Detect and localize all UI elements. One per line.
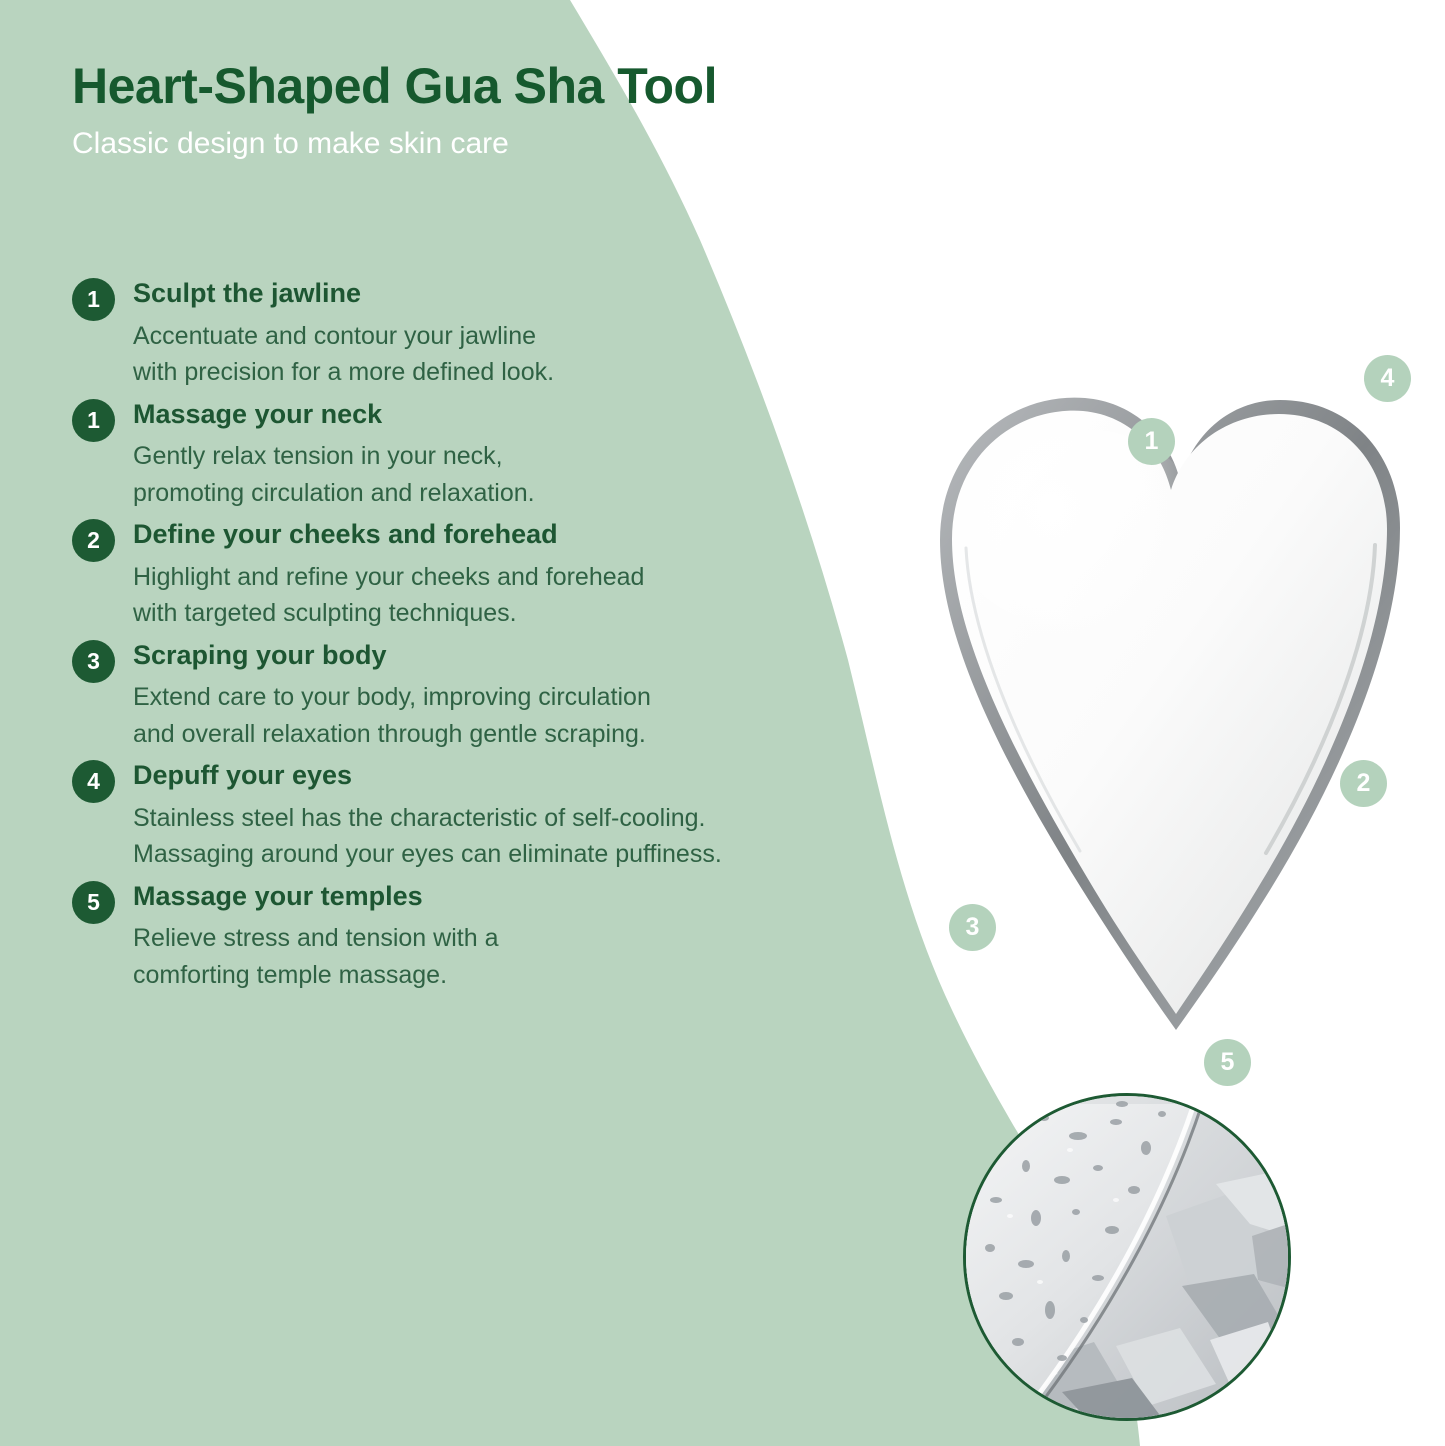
feature-badge: 4 [72,760,115,803]
feature-description-line: Relieve stress and tension with a [133,920,902,957]
feature-item: 4 Depuff your eyes Stainless steel has t… [72,758,902,873]
feature-badge: 1 [72,278,115,321]
product-marker-4: 4 [1364,355,1411,402]
feature-title: Massage your neck [133,397,902,432]
feature-list: 1 Sculpt the jawline Accentuate and cont… [72,276,902,999]
feature-description-line: with precision for a more defined look. [133,354,902,391]
feature-badge: 5 [72,881,115,924]
feature-description: Relieve stress and tension with a comfor… [133,920,902,993]
page-title: Heart-Shaped Gua Sha Tool [72,58,892,114]
feature-description-line: Gently relax tension in your neck, [133,438,902,475]
feature-description: Gently relax tension in your neck, promo… [133,438,902,511]
feature-title: Scraping your body [133,638,902,673]
feature-item: 2 Define your cheeks and forehead Highli… [72,517,902,632]
product-marker-2: 2 [1340,760,1387,807]
feature-text: Massage your temples Relieve stress and … [133,879,902,994]
feature-title: Depuff your eyes [133,758,902,793]
feature-description: Accentuate and contour your jawline with… [133,318,902,391]
ice-closeup-inset [963,1093,1291,1421]
feature-description-line: Accentuate and contour your jawline [133,318,902,355]
feature-title: Define your cheeks and forehead [133,517,902,552]
feature-item: 1 Sculpt the jawline Accentuate and cont… [72,276,902,391]
product-marker-1: 1 [1128,418,1175,465]
feature-description-line: promoting circulation and relaxation. [133,475,902,512]
feature-text: Depuff your eyes Stainless steel has the… [133,758,902,873]
feature-badge: 2 [72,519,115,562]
feature-text: Sculpt the jawline Accentuate and contou… [133,276,902,391]
feature-item: 1 Massage your neck Gently relax tension… [72,397,902,512]
feature-description-line: with targeted sculpting techniques. [133,595,902,632]
feature-item: 5 Massage your temples Relieve stress an… [72,879,902,994]
feature-badge: 1 [72,399,115,442]
feature-description-line: Stainless steel has the characteristic o… [133,800,902,837]
feature-text: Scraping your body Extend care to your b… [133,638,902,753]
header: Heart-Shaped Gua Sha Tool Classic design… [72,58,892,162]
infographic-canvas: Heart-Shaped Gua Sha Tool Classic design… [0,0,1445,1446]
product-marker-5: 5 [1204,1039,1251,1086]
feature-description-line: Highlight and refine your cheeks and for… [133,559,902,596]
feature-title: Massage your temples [133,879,902,914]
feature-text: Massage your neck Gently relax tension i… [133,397,902,512]
feature-description-line: and overall relaxation through gentle sc… [133,716,902,753]
feature-badge: 3 [72,640,115,683]
page-subtitle: Classic design to make skin care [72,126,892,162]
feature-description: Extend care to your body, improving circ… [133,679,902,752]
feature-text: Define your cheeks and forehead Highligh… [133,517,902,632]
feature-description-line: Extend care to your body, improving circ… [133,679,902,716]
feature-item: 3 Scraping your body Extend care to your… [72,638,902,753]
ice-closeup-image [966,1096,1288,1418]
feature-description: Stainless steel has the characteristic o… [133,800,902,873]
product-marker-3: 3 [949,904,996,951]
feature-description-line: comforting temple massage. [133,957,902,994]
feature-description: Highlight and refine your cheeks and for… [133,559,902,632]
feature-title: Sculpt the jawline [133,276,902,311]
feature-description-line: Massaging around your eyes can eliminate… [133,836,902,873]
